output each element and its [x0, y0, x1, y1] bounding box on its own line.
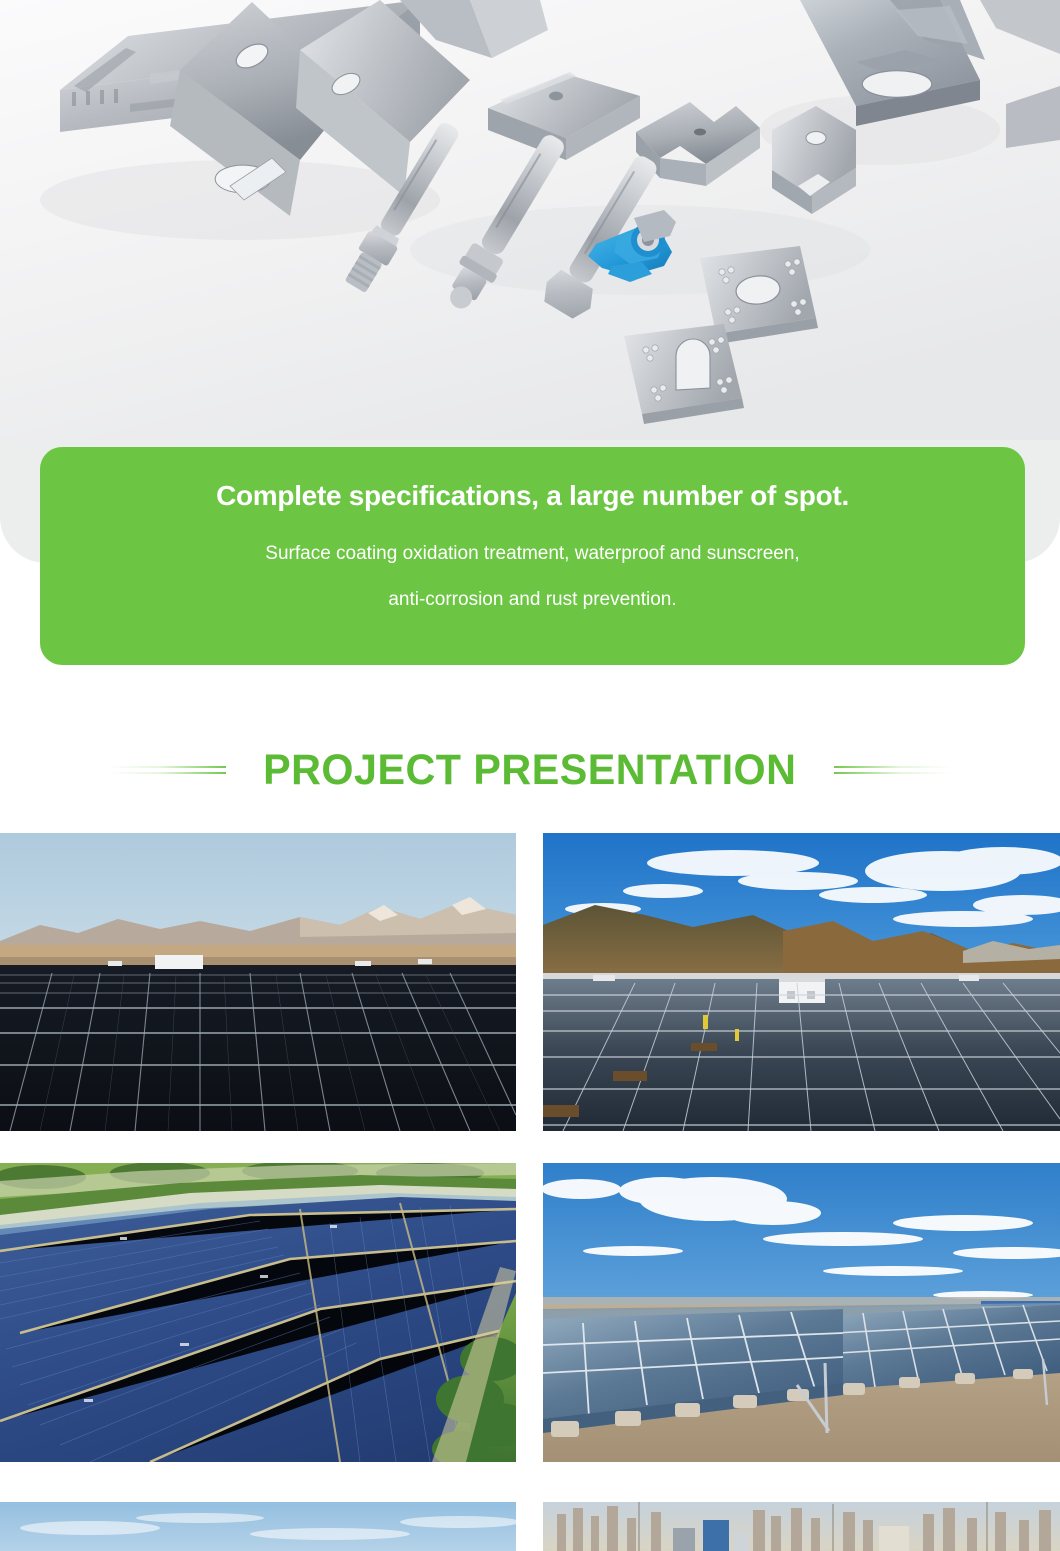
specifications-callout-card: Complete specifications, a large number … [40, 447, 1025, 665]
project-gallery-grid [0, 833, 1060, 1551]
callout-headline: Complete specifications, a large number … [40, 479, 1025, 513]
gallery-item-project-4[interactable] [543, 1163, 1060, 1462]
gallery-item-project-1[interactable] [0, 833, 516, 1131]
callout-line-1: Surface coating oxidation treatment, wat… [40, 542, 1025, 566]
left-line-decoration-icon [108, 761, 226, 779]
right-line-decoration-icon [834, 761, 952, 779]
gallery-item-project-2[interactable] [543, 833, 1060, 1131]
gallery-item-project-3[interactable] [0, 1163, 516, 1462]
product-hardware-photo [0, 0, 1060, 440]
product-detail-page: Complete specifications, a large number … [0, 0, 1060, 1551]
gallery-item-project-5[interactable] [0, 1502, 516, 1551]
section-title: PROJECT PRESENTATION [263, 746, 796, 795]
callout-line-2: anti-corrosion and rust prevention. [40, 588, 1025, 612]
gallery-item-project-6[interactable] [543, 1502, 1060, 1551]
section-header: PROJECT PRESENTATION [0, 722, 1060, 818]
